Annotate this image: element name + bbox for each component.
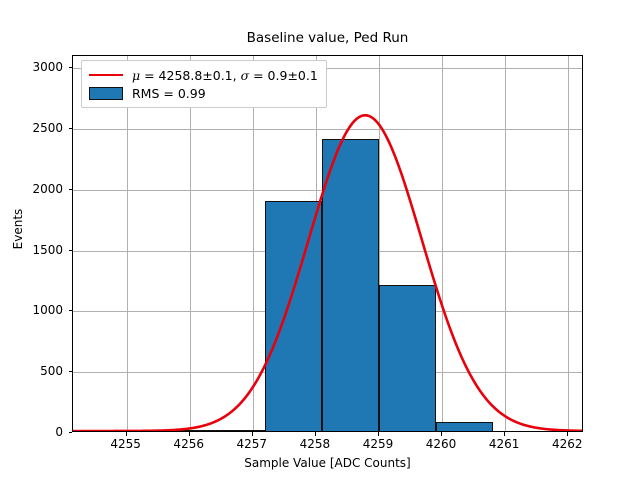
- x-tick-label: 4261: [489, 437, 520, 451]
- y-tick-mark: [69, 371, 73, 372]
- y-tick-mark: [69, 128, 73, 129]
- x-tick-label: 4258: [300, 437, 331, 451]
- y-tick-mark: [69, 310, 73, 311]
- legend-entry-fit: μ = 4258.8±0.1, σ = 0.9±0.1: [89, 66, 318, 84]
- legend-label-fit: μ = 4258.8±0.1, σ = 0.9±0.1: [132, 68, 318, 83]
- y-tick-label: 0: [0, 425, 63, 439]
- x-tick-label: 4259: [363, 437, 394, 451]
- x-tick-mark: [189, 432, 190, 436]
- x-tick-mark: [126, 432, 127, 436]
- x-tick-label: 4256: [173, 437, 204, 451]
- y-tick-label: 1000: [0, 303, 63, 317]
- x-tick-label: 4257: [237, 437, 268, 451]
- plot-area: [72, 55, 583, 432]
- y-tick-label: 2500: [0, 121, 63, 135]
- y-axis-label: Events: [11, 129, 25, 329]
- figure-canvas: Baseline value, Ped Run 4255425642574258…: [0, 0, 640, 480]
- mu-value: = 4258.8±0.1,: [140, 68, 240, 83]
- sigma-value: = 0.9±0.1: [249, 68, 318, 83]
- x-tick-label: 4255: [110, 437, 141, 451]
- x-tick-label: 4262: [552, 437, 583, 451]
- x-tick-mark: [441, 432, 442, 436]
- y-tick-mark: [69, 189, 73, 190]
- y-tick-label: 1500: [0, 243, 63, 257]
- y-tick-label: 2000: [0, 182, 63, 196]
- y-tick-mark: [69, 432, 73, 433]
- legend-entry-rms: RMS = 0.99: [89, 84, 318, 102]
- y-tick-mark: [69, 250, 73, 251]
- x-tick-mark: [567, 432, 568, 436]
- legend-line-swatch-icon: [89, 68, 123, 82]
- chart-title: Baseline value, Ped Run: [72, 30, 583, 46]
- legend-label-rms: RMS = 0.99: [132, 86, 206, 101]
- x-tick-mark: [504, 432, 505, 436]
- x-tick-mark: [315, 432, 316, 436]
- x-axis-label: Sample Value [ADC Counts]: [72, 456, 583, 470]
- x-tick-mark: [252, 432, 253, 436]
- mu-symbol: μ: [132, 68, 140, 83]
- legend: μ = 4258.8±0.1, σ = 0.9±0.1 RMS = 0.99: [81, 60, 327, 108]
- x-tick-label: 4260: [426, 437, 457, 451]
- y-tick-label: 500: [0, 364, 63, 378]
- sigma-symbol: σ: [241, 68, 250, 83]
- y-tick-mark: [69, 67, 73, 68]
- legend-patch-swatch-icon: [89, 87, 123, 100]
- x-tick-mark: [378, 432, 379, 436]
- y-tick-label: 3000: [0, 60, 63, 74]
- gaussian-fit-curve: [73, 56, 582, 431]
